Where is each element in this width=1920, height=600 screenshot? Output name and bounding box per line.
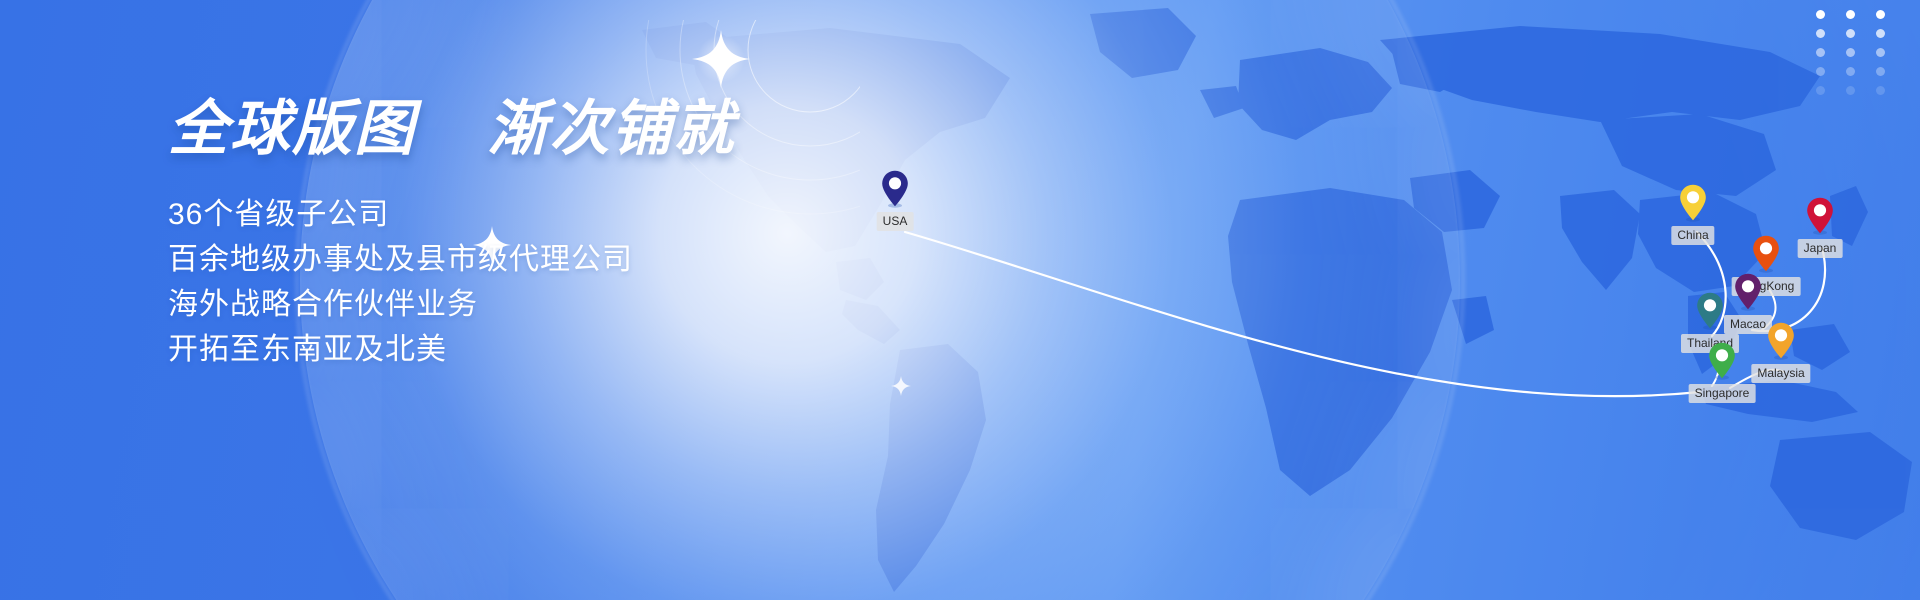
subtitle-line: 开拓至东南亚及北美 [168,327,928,372]
page-title: 全球版图 渐次铺就 [168,96,928,162]
map-marker-label: China [1671,226,1714,245]
banner-copy: 全球版图 渐次铺就 36个省级子公司 百余地级办事处及县市级代理公司 海外战略合… [168,96,928,372]
headline-right: 渐次铺就 [487,95,735,162]
headline-left: 全球版图 [168,95,416,162]
subtitle-list: 36个省级子公司 百余地级办事处及县市级代理公司 海外战略合作伙伴业务 开拓至东… [168,192,928,372]
subtitle-line: 百余地级办事处及县市级代理公司 [168,237,928,282]
dot-grid-decor [1816,10,1892,95]
map-marker-label: Macao [1724,315,1772,334]
map-marker-label: Singapore [1689,384,1756,403]
location-pin-icon [1679,184,1707,222]
location-pin-icon [1708,342,1736,380]
location-pin-icon [1767,322,1795,360]
location-pin-icon [1806,197,1834,235]
map-marker-label: Japan [1798,239,1843,258]
location-pin-icon [1734,273,1762,311]
map-marker-label: Malaysia [1751,364,1810,383]
subtitle-line: 海外战略合作伙伴业务 [168,282,928,327]
location-pin-icon [1696,292,1724,330]
location-pin-icon [1752,235,1780,273]
global-map-banner: USAChinaJapanHongKongMacaoThailandMalays… [0,0,1920,600]
subtitle-line: 36个省级子公司 [168,192,928,237]
